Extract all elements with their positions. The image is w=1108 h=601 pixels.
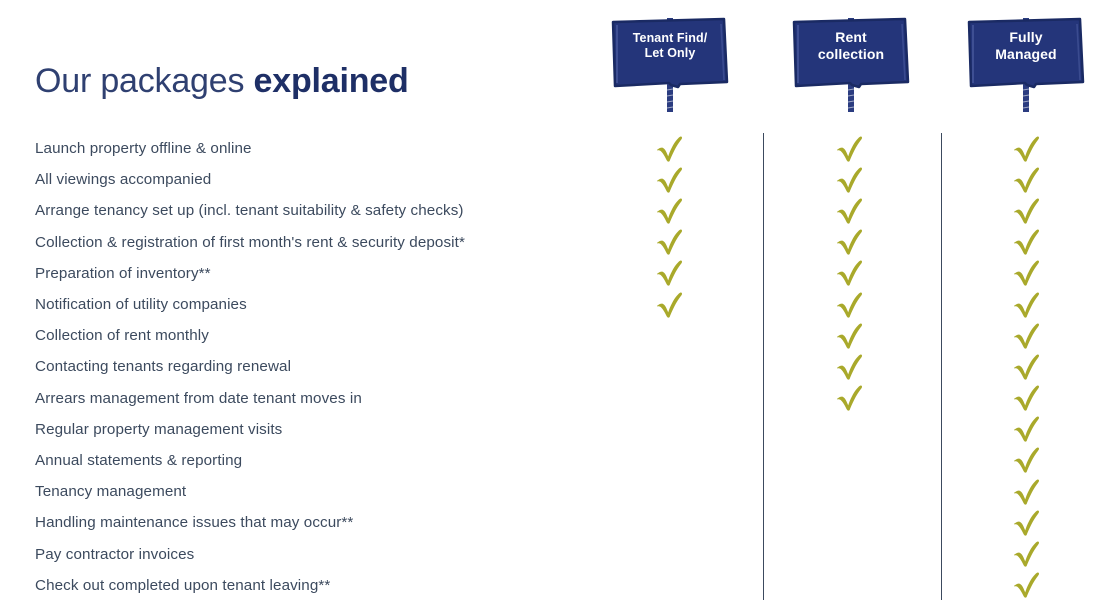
table-row: Contacting tenants regarding renewal: [0, 351, 1108, 382]
column-header-tenant-find-let-only[interactable]: Tenant Find/ Let Only: [608, 8, 732, 112]
check-mark-icon: [1013, 541, 1041, 567]
feature-cell-tenant-find-let-only: [640, 414, 700, 445]
feature-label: Preparation of inventory**: [35, 258, 211, 289]
feature-cell-fully-managed: [997, 476, 1057, 507]
feature-label: Launch property offline & online: [35, 133, 252, 164]
table-row: Arrange tenancy set up (incl. tenant sui…: [0, 195, 1108, 226]
signpost-icon: [608, 8, 732, 112]
feature-cell-tenant-find-let-only: [640, 538, 700, 569]
signpost-icon: [789, 8, 913, 112]
table-row: Preparation of inventory**: [0, 258, 1108, 289]
feature-comparison-table: Launch property offline & onlineAll view…: [0, 133, 1108, 601]
feature-label: Arrange tenancy set up (incl. tenant sui…: [35, 195, 464, 226]
feature-label: Check out completed upon tenant leaving*…: [35, 570, 330, 601]
feature-label: Tenancy management: [35, 476, 186, 507]
check-mark-icon: [836, 292, 864, 318]
feature-cell-rent-collection: [820, 445, 880, 476]
feature-label: All viewings accompanied: [35, 164, 211, 195]
check-mark-icon: [836, 229, 864, 255]
column-header-fully-managed[interactable]: Fully Managed: [964, 8, 1088, 112]
feature-label: Collection & registration of first month…: [35, 227, 465, 258]
table-row: Check out completed upon tenant leaving*…: [0, 570, 1108, 601]
feature-cell-tenant-find-let-only: [640, 227, 700, 258]
table-row: All viewings accompanied: [0, 164, 1108, 195]
table-row: Annual statements & reporting: [0, 445, 1108, 476]
feature-cell-fully-managed: [997, 195, 1057, 226]
feature-cell-fully-managed: [997, 133, 1057, 164]
page-title: Our packages explained: [35, 59, 409, 103]
feature-cell-tenant-find-let-only: [640, 320, 700, 351]
check-mark-icon: [836, 354, 864, 380]
feature-cell-rent-collection: [820, 476, 880, 507]
feature-cell-rent-collection: [820, 289, 880, 320]
feature-cell-tenant-find-let-only: [640, 164, 700, 195]
feature-label: Notification of utility companies: [35, 289, 247, 320]
feature-label: Collection of rent monthly: [35, 320, 209, 351]
page-title-light: Our packages: [35, 62, 254, 100]
check-mark-icon: [656, 167, 684, 193]
check-mark-icon: [836, 198, 864, 224]
feature-cell-rent-collection: [820, 133, 880, 164]
check-mark-icon: [836, 167, 864, 193]
feature-cell-tenant-find-let-only: [640, 195, 700, 226]
table-row: Arrears management from date tenant move…: [0, 383, 1108, 414]
feature-label: Pay contractor invoices: [35, 538, 194, 569]
feature-cell-tenant-find-let-only: [640, 476, 700, 507]
feature-label: Annual statements & reporting: [35, 445, 242, 476]
feature-cell-rent-collection: [820, 507, 880, 538]
check-mark-icon: [1013, 198, 1041, 224]
feature-cell-fully-managed: [997, 351, 1057, 382]
feature-label: Contacting tenants regarding renewal: [35, 351, 291, 382]
check-mark-icon: [1013, 416, 1041, 442]
feature-label: Regular property management visits: [35, 414, 282, 445]
signpost-icon: [964, 8, 1088, 112]
table-row: Notification of utility companies: [0, 289, 1108, 320]
table-row: Regular property management visits: [0, 414, 1108, 445]
feature-cell-tenant-find-let-only: [640, 383, 700, 414]
column-header-rent-collection[interactable]: Rent collection: [789, 8, 913, 112]
check-mark-icon: [1013, 136, 1041, 162]
feature-cell-tenant-find-let-only: [640, 289, 700, 320]
check-mark-icon: [656, 198, 684, 224]
feature-cell-tenant-find-let-only: [640, 445, 700, 476]
check-mark-icon: [1013, 572, 1041, 598]
feature-cell-rent-collection: [820, 414, 880, 445]
feature-cell-rent-collection: [820, 195, 880, 226]
check-mark-icon: [656, 292, 684, 318]
check-mark-icon: [836, 323, 864, 349]
check-mark-icon: [1013, 510, 1041, 536]
check-mark-icon: [1013, 229, 1041, 255]
feature-cell-rent-collection: [820, 258, 880, 289]
feature-cell-fully-managed: [997, 320, 1057, 351]
check-mark-icon: [1013, 167, 1041, 193]
feature-cell-rent-collection: [820, 227, 880, 258]
feature-cell-fully-managed: [997, 570, 1057, 601]
check-mark-icon: [1013, 479, 1041, 505]
table-row: Handling maintenance issues that may occ…: [0, 507, 1108, 538]
feature-cell-rent-collection: [820, 320, 880, 351]
check-mark-icon: [656, 260, 684, 286]
feature-cell-fully-managed: [997, 258, 1057, 289]
feature-label: Arrears management from date tenant move…: [35, 383, 362, 414]
table-row: Tenancy management: [0, 476, 1108, 507]
feature-cell-tenant-find-let-only: [640, 351, 700, 382]
check-mark-icon: [1013, 292, 1041, 318]
feature-cell-tenant-find-let-only: [640, 258, 700, 289]
check-mark-icon: [836, 136, 864, 162]
page-title-bold: explained: [254, 62, 409, 100]
table-row: Launch property offline & online: [0, 133, 1108, 164]
check-mark-icon: [836, 260, 864, 286]
feature-cell-fully-managed: [997, 507, 1057, 538]
feature-cell-tenant-find-let-only: [640, 133, 700, 164]
check-mark-icon: [1013, 323, 1041, 349]
feature-cell-fully-managed: [997, 445, 1057, 476]
feature-cell-tenant-find-let-only: [640, 507, 700, 538]
feature-cell-fully-managed: [997, 164, 1057, 195]
feature-cell-tenant-find-let-only: [640, 570, 700, 601]
feature-cell-fully-managed: [997, 289, 1057, 320]
feature-cell-rent-collection: [820, 164, 880, 195]
check-mark-icon: [656, 229, 684, 255]
check-mark-icon: [1013, 354, 1041, 380]
feature-label: Handling maintenance issues that may occ…: [35, 507, 353, 538]
feature-cell-rent-collection: [820, 538, 880, 569]
feature-cell-rent-collection: [820, 570, 880, 601]
check-mark-icon: [836, 385, 864, 411]
feature-cell-fully-managed: [997, 538, 1057, 569]
feature-cell-rent-collection: [820, 383, 880, 414]
feature-cell-rent-collection: [820, 351, 880, 382]
table-row: Pay contractor invoices: [0, 538, 1108, 569]
feature-cell-fully-managed: [997, 414, 1057, 445]
check-mark-icon: [1013, 385, 1041, 411]
packages-comparison-page: { "header": { "title_light": "Our packag…: [0, 0, 1108, 600]
check-mark-icon: [1013, 447, 1041, 473]
feature-cell-fully-managed: [997, 383, 1057, 414]
table-row: Collection of rent monthly: [0, 320, 1108, 351]
check-mark-icon: [656, 136, 684, 162]
check-mark-icon: [1013, 260, 1041, 286]
feature-cell-fully-managed: [997, 227, 1057, 258]
table-row: Collection & registration of first month…: [0, 227, 1108, 258]
